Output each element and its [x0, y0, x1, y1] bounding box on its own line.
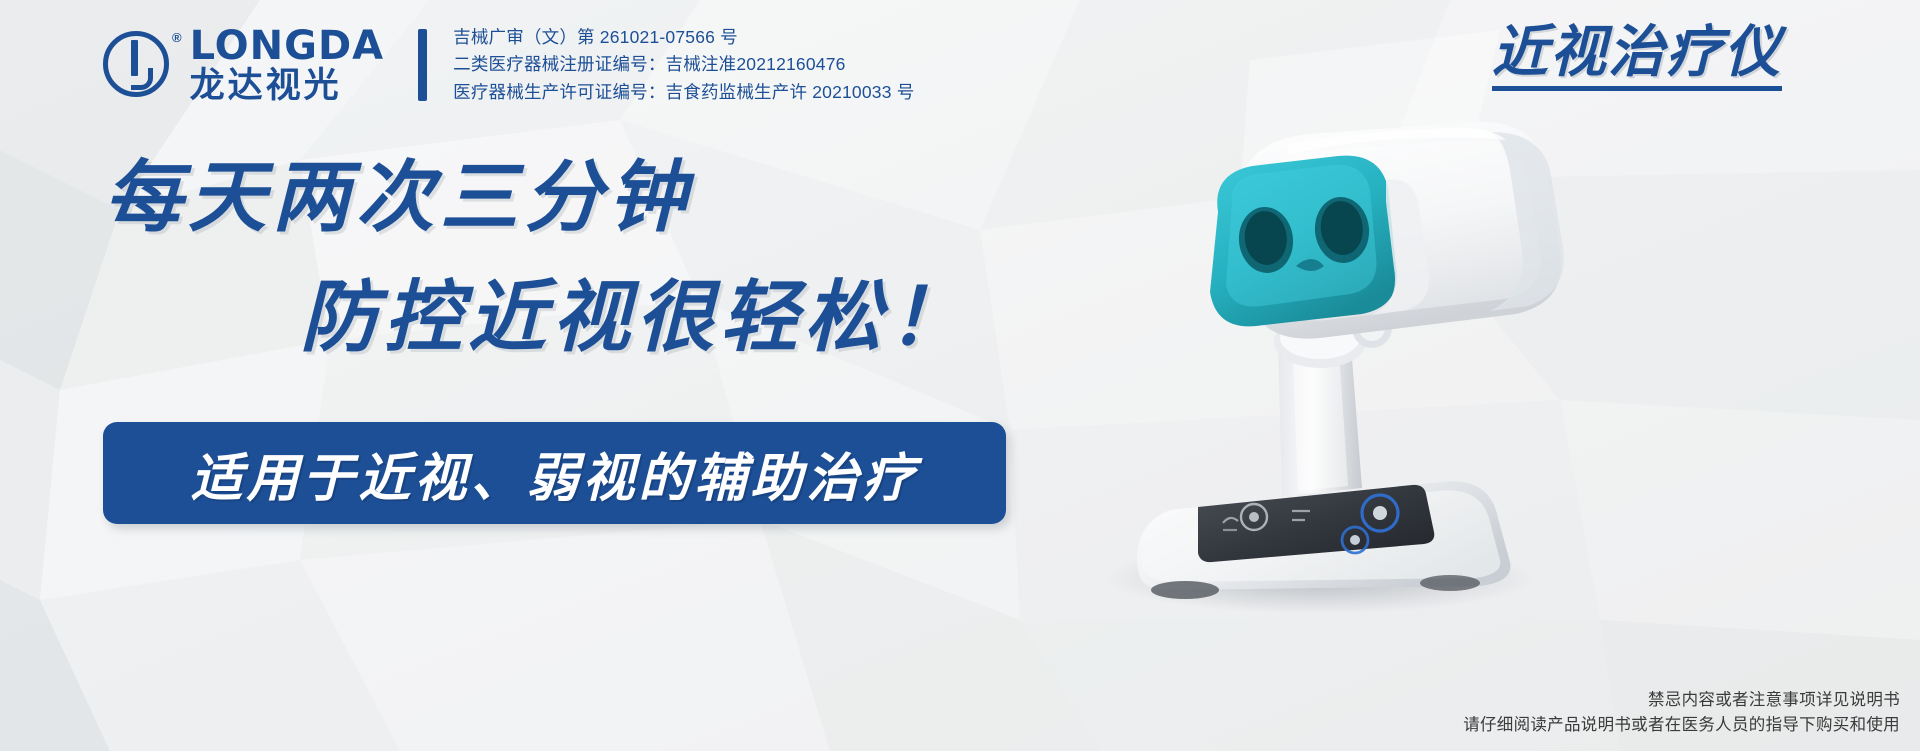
registration-info: 吉械广审（文）第 261021-07566 号 二类医疗器械注册证编号：吉械注准… [453, 24, 914, 106]
headline-line-2: 防控近视很轻松！ [300, 278, 972, 356]
disclaimer-line-1: 禁忌内容或者注意事项详见说明书 [1463, 688, 1900, 714]
headline-line-1: 每天两次三分钟 [104, 158, 972, 236]
indication-banner: 适用于近视、弱视的辅助治疗 [103, 422, 1006, 524]
banner-advertisement: ® LONGDA 龙达视光 吉械广审（文）第 261021-07566 号 二类… [0, 0, 1920, 751]
headline: 每天两次三分钟 防控近视很轻松！ [104, 158, 972, 356]
registration-line-2: 二类医疗器械注册证编号：吉械注准20212160476 [453, 51, 914, 78]
registration-line-3: 医疗器械生产许可证编号：吉食药监械生产许 20210033 号 [453, 79, 914, 106]
brand-latin-name: LONGDA [190, 26, 385, 66]
registration-line-1: 吉械广审（文）第 261021-07566 号 [453, 24, 914, 51]
indication-banner-text: 适用于近视、弱视的辅助治疗 [190, 436, 918, 511]
product-title-underline [1492, 86, 1782, 91]
brand-chinese-name: 龙达视光 [190, 68, 385, 105]
brand-logo[interactable]: ® LONGDA 龙达视光 [100, 26, 384, 105]
disclaimer-line-2: 请仔细阅读产品说明书或者在医务人员的指导下购买和使用 [1463, 713, 1900, 739]
longda-circle-mark-icon [100, 28, 174, 102]
product-title: 近视治疗仪 [1492, 22, 1782, 91]
header: ® LONGDA 龙达视光 吉械广审（文）第 261021-07566 号 二类… [100, 24, 914, 106]
product-title-text: 近视治疗仪 [1492, 22, 1782, 82]
header-divider [418, 29, 427, 101]
product-image [1020, 70, 1640, 630]
disclaimer: 禁忌内容或者注意事项详见说明书 请仔细阅读产品说明书或者在医务人员的指导下购买和… [1463, 688, 1900, 739]
